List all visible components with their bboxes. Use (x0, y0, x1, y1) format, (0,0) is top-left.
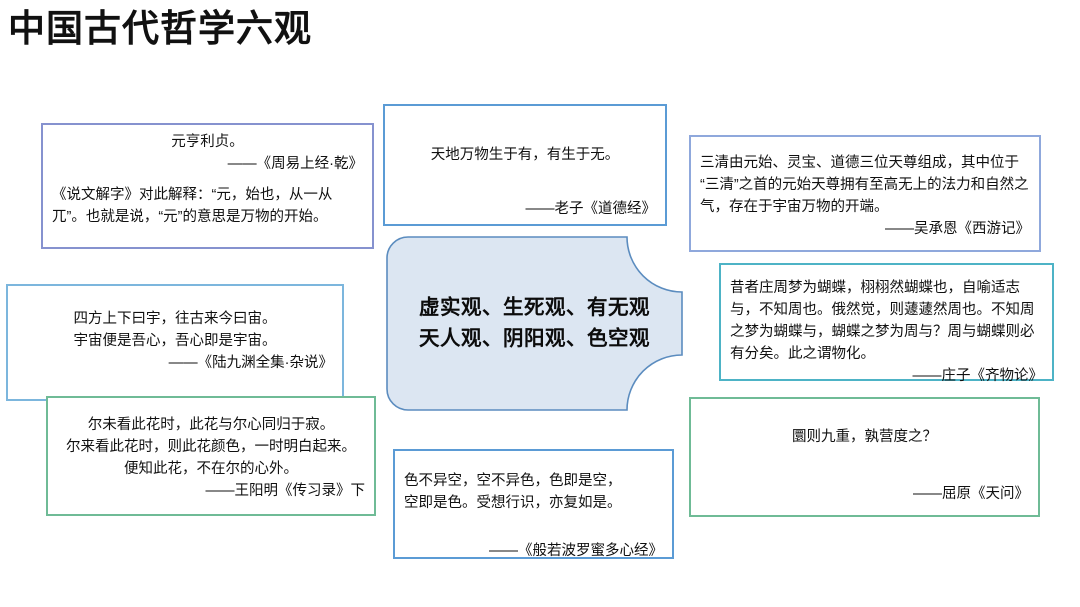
quote-card-xiyouji: 三清由元始、灵宝、道德三位天尊组成，其中位于“三清”之首的元始天尊拥有至高无上的… (689, 135, 1041, 252)
page-title: 中国古代哲学六观 (8, 6, 312, 52)
quote-body: 昔者庄周梦为蝴蝶，栩栩然蝴蝶也，自喻适志与，不知周也。俄然觉，则蘧蘧然周也。不知… (730, 277, 1043, 365)
quote-line-1: 色不异空，空不异色，色即是空， (404, 470, 663, 492)
quote-source: ——《般若波罗蜜多心经》 (404, 540, 663, 562)
quote-card-quyuan: 圜则九重，孰营度之？ ——屈原《天问》 (689, 397, 1040, 517)
quote-line-1: 尔未看此花时，此花与尔心同归于寂。 (57, 414, 365, 436)
quote-card-wangyangming: 尔未看此花时，此花与尔心同归于寂。 尔来看此花时，则此花颜色，一时明白起来。 便… (46, 396, 376, 516)
central-shape-outline (386, 236, 683, 411)
quote-card-xinjing: 色不异空，空不异色，色即是空， 空即是色。受想行识，亦复如是。 ——《般若波罗蜜… (393, 449, 674, 559)
quote-body: 《说文解字》对此解释：“元，始也，从一从兀”。也就是说，“元”的意思是万物的开始… (52, 184, 363, 228)
quote-text: 天地万物生于有，有生于无。 (394, 144, 656, 166)
quote-body: 三清由元始、灵宝、道德三位天尊组成，其中位于“三清”之首的元始天尊拥有至高无上的… (700, 152, 1030, 218)
quote-line-3: 便知此花，不在尔的心外。 (57, 458, 365, 480)
quote-card-zhuangzi: 昔者庄周梦为蝴蝶，栩栩然蝴蝶也，自喻适志与，不知周也。俄然觉，则蘧蘧然周也。不知… (719, 263, 1054, 381)
quote-text: 圜则九重，孰营度之？ (700, 426, 1029, 448)
quote-card-laozi: 天地万物生于有，有生于无。 ——老子《道德经》 (383, 104, 667, 226)
quote-card-yijing: 元亨利贞。 ——《周易上经·乾》 《说文解字》对此解释：“元，始也，从一从兀”。… (41, 123, 374, 249)
quote-source: ——王阳明《传习录》下 (57, 480, 365, 502)
quote-line-2: 尔来看此花时，则此花颜色，一时明白起来。 (57, 436, 365, 458)
quote-line-1: 四方上下曰宇，往古来今曰宙。 (17, 308, 333, 330)
quote-line-2: 宇宙便是吾心，吾心即是宇宙。 (17, 330, 333, 352)
central-concept-shape: 虚实观、生死观、有无观 天人观、阴阳观、色空观 (386, 236, 683, 411)
quote-text: 元亨利贞。 (52, 131, 363, 153)
quote-source: ——屈原《天问》 (700, 483, 1029, 505)
quote-source: ——吴承恩《西游记》 (700, 218, 1030, 240)
quote-source: ——老子《道德经》 (394, 198, 656, 220)
quote-source: ——《周易上经·乾》 (52, 153, 363, 175)
quote-source: ——庄子《齐物论》 (730, 365, 1043, 387)
quote-source: ——《陆九渊全集·杂说》 (17, 352, 333, 374)
quote-card-lujiuyuan: 四方上下曰宇，往古来今曰宙。 宇宙便是吾心，吾心即是宇宙。 ——《陆九渊全集·杂… (6, 284, 344, 401)
quote-line-2: 空即是色。受想行识，亦复如是。 (404, 492, 663, 514)
